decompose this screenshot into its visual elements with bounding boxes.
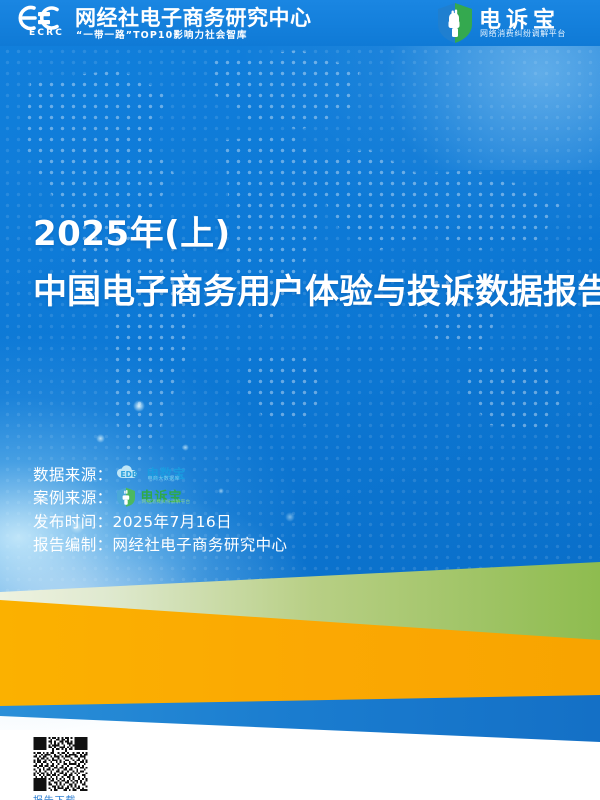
meta-row-case-source: 案例来源： 电诉宝 网络消费纠纷调解平台 [33,486,433,510]
meta-value: 2025年7月16日 [113,510,233,532]
dianshubao-tagline: 网络消费纠纷调解平台 [480,28,566,39]
cover-title-year: 2025年(上) [33,206,231,255]
report-cover-poster: ECRC 网经社电子商务研究中心 “一带一路”TOP10影响力社会智库 电诉宝 … [0,0,600,800]
ecrc-acronym: ECRC [29,28,64,38]
ecrc-tagline: “一带一路”TOP10影响力社会智库 [76,27,248,41]
svg-text:EDB: EDB [120,470,137,479]
dianshubao-logo[interactable]: 电诉宝 网络消费纠纷调解平台 [435,2,585,44]
cover-meta-block: 数据来源： EDB 电数宝 电商大数据库 案例来源： [33,462,433,556]
edb-cloud-logo[interactable]: EDB 电数宝 电商大数据库 [115,464,193,483]
fist-shield-icon [115,487,137,507]
ecrc-logo[interactable]: ECRC 网经社电子商务研究中心 “一带一路”TOP10影响力社会智库 [13,3,275,43]
edb-logo-sub: 电商大数据库 [148,475,180,482]
meta-value: 网经社电子商务研究中心 [113,533,288,555]
meta-label: 案例来源： [33,486,113,508]
meta-row-publish-date: 发布时间： 2025年7月16日 [33,509,433,533]
meta-label: 报告编制： [33,533,113,555]
meta-row-data-source: 数据来源： EDB 电数宝 电商大数据库 [33,462,433,486]
report-download-qr-code[interactable] [33,737,88,791]
fist-shield-icon [435,2,475,44]
meta-label: 数据来源： [33,463,113,485]
meta-row-compiled-by: 报告编制： 网经社电子商务研究中心 [33,533,433,557]
decorative-ribbon [0,556,600,746]
qr-caption: 报告下载 [33,792,76,800]
meta-label: 发布时间： [33,510,113,532]
cover-title-main: 中国电子商务用户体验与投诉数据报告 [33,264,600,313]
dsb-logo-sub: 网络消费纠纷调解平台 [142,499,191,505]
cloud-icon: EDB [115,464,149,483]
dsb-fist-logo[interactable]: 电诉宝 网络消费纠纷调解平台 [115,487,193,507]
